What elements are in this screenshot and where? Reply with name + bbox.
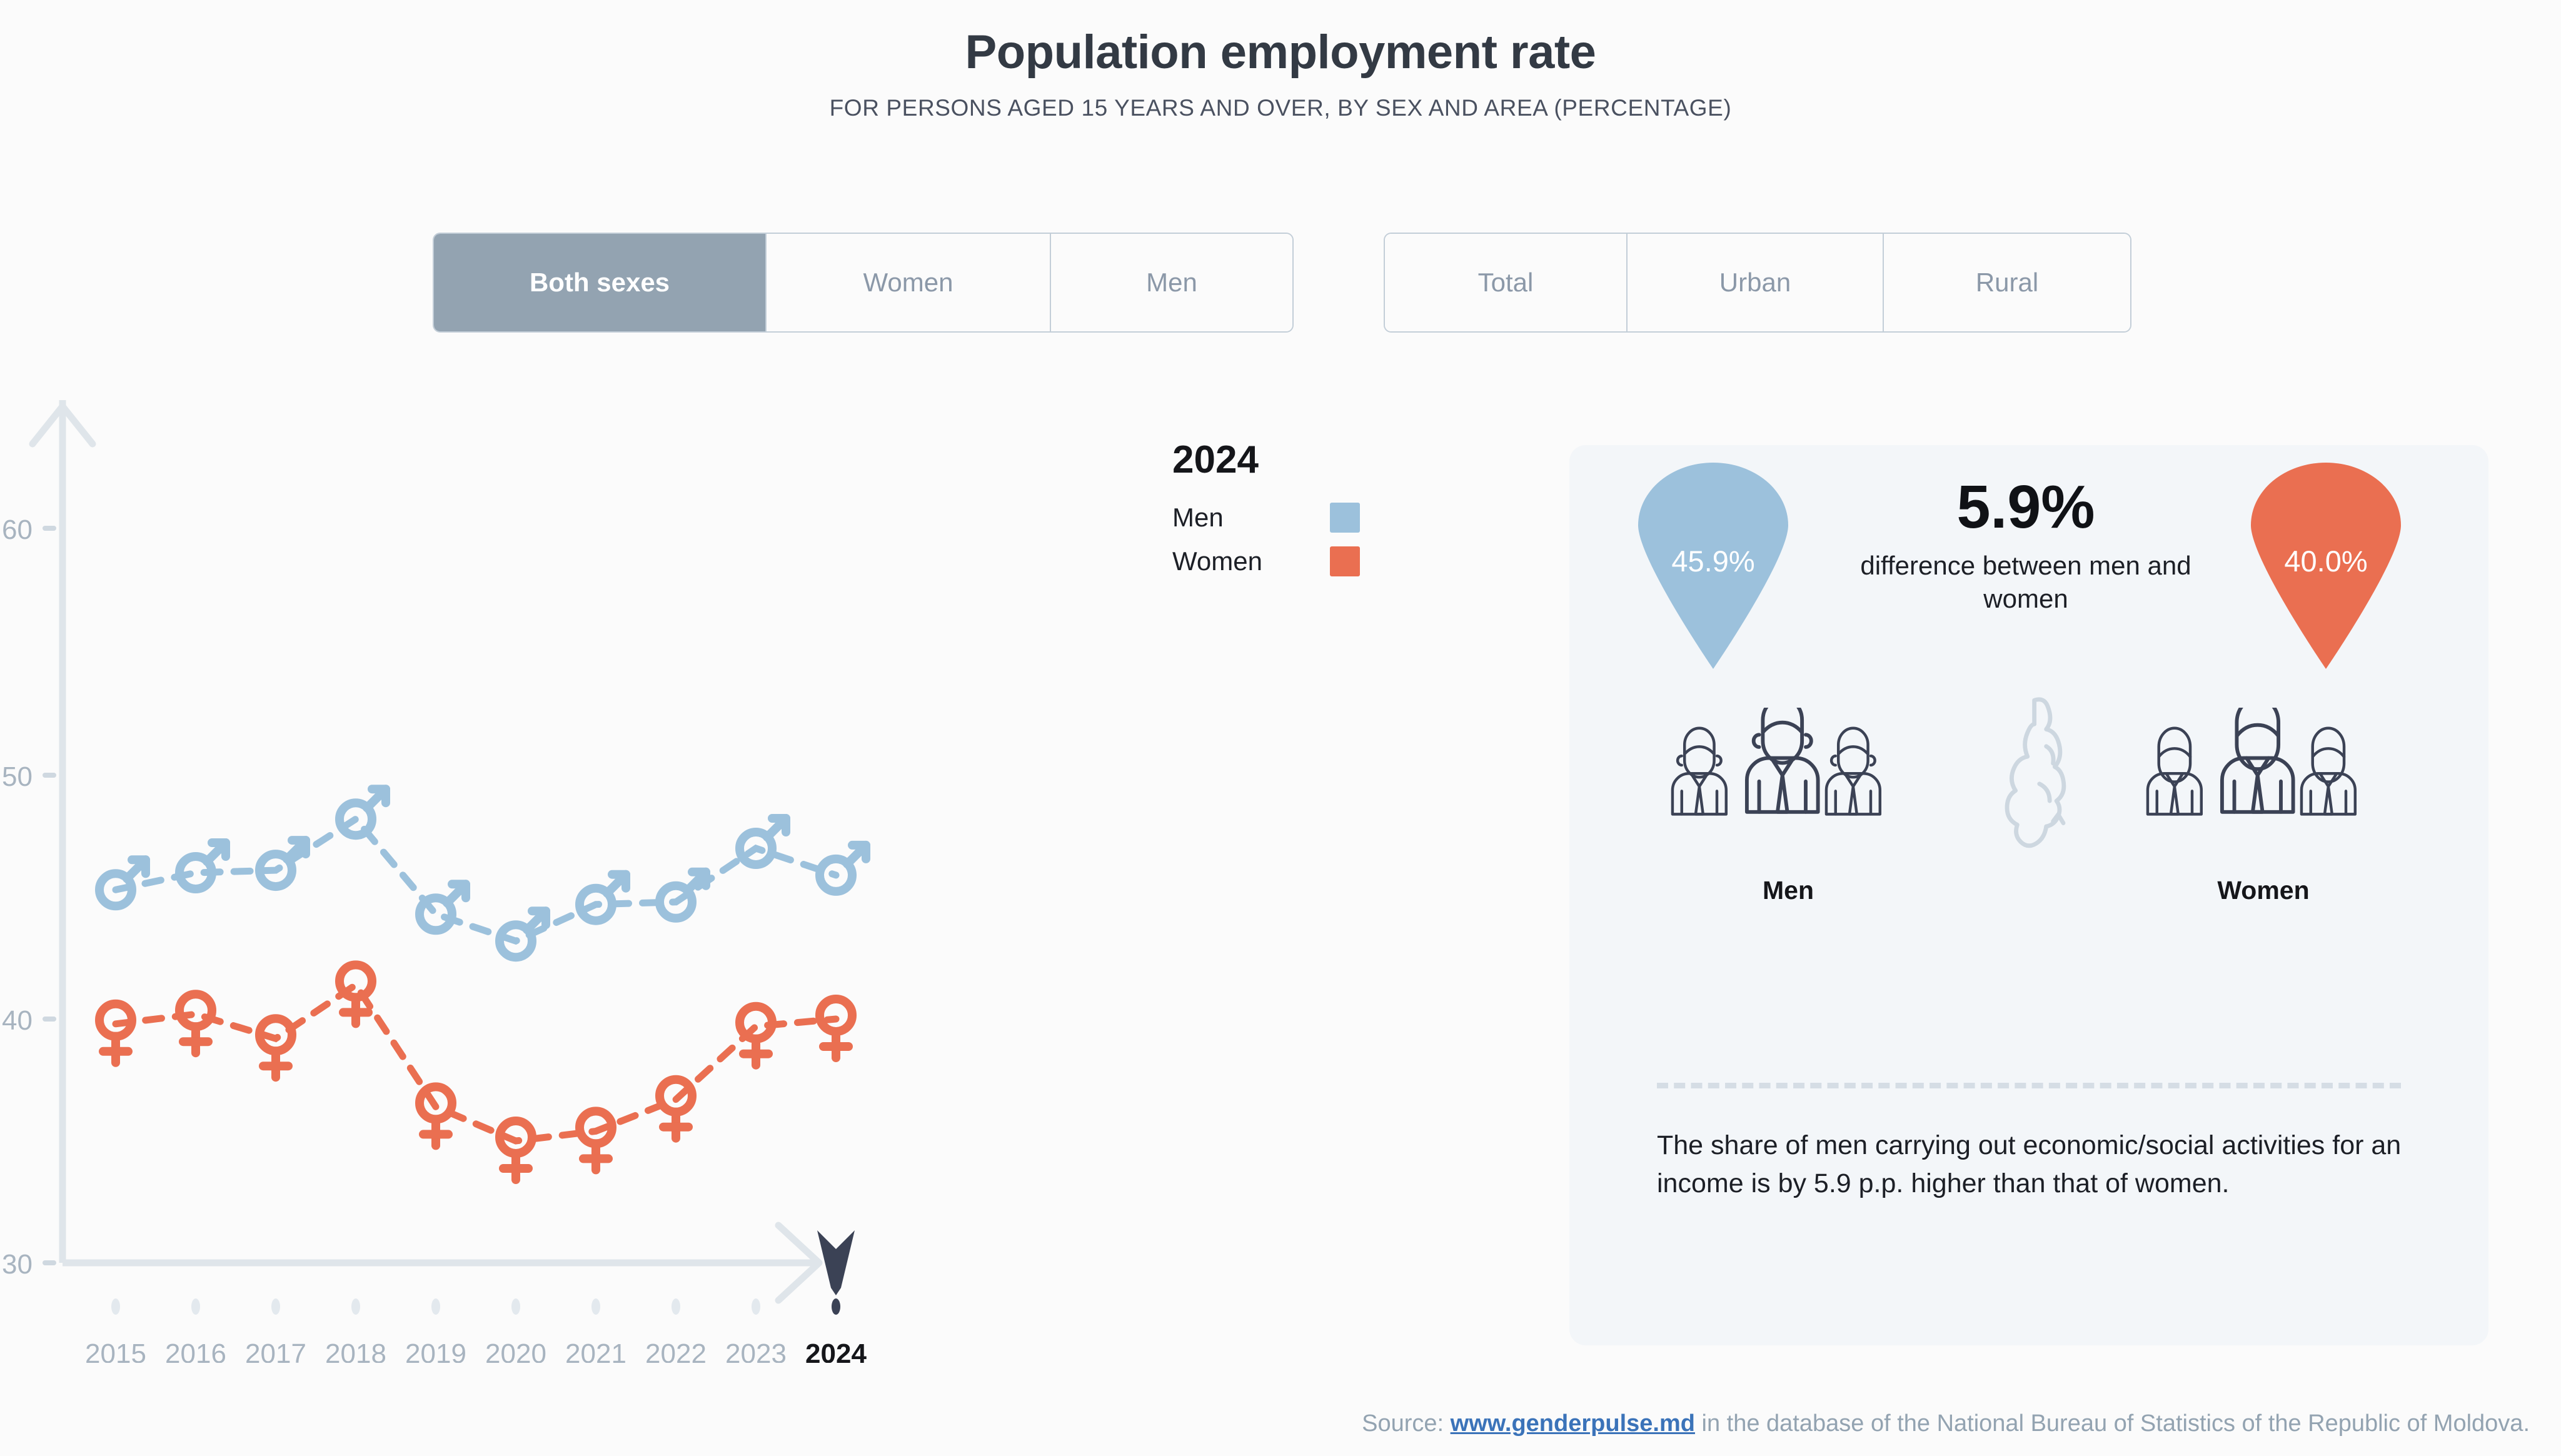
data-point-women-2015[interactable] <box>99 1004 132 1063</box>
difference-caption: difference between men and women <box>1819 550 2232 615</box>
sex-filter-group: Both sexes Women Men <box>433 233 1294 333</box>
data-point-men-2016[interactable] <box>179 843 226 889</box>
people-group-women: Women <box>2132 708 2395 905</box>
y-tick-60: 60 <box>2 515 33 545</box>
women-people-icon <box>2132 708 2395 864</box>
data-point-women-2020[interactable] <box>500 1121 532 1180</box>
page-header: Population employment rate FOR PERSONS A… <box>0 0 2561 121</box>
panel-divider <box>1657 1083 2401 1088</box>
panel-description: The share of men carrying out economic/s… <box>1657 1127 2413 1203</box>
summary-info-panel: 45.9% 5.9% difference between men and wo… <box>1569 445 2488 1345</box>
y-axis <box>33 400 93 1263</box>
data-point-women-2018[interactable] <box>340 965 372 1023</box>
series-line-men <box>116 819 836 941</box>
y-tick-50: 50 <box>2 761 33 792</box>
series-women <box>99 965 852 1180</box>
map-pin-women: 40.0% <box>2245 463 2407 669</box>
x-tick-2022[interactable]: 2022 <box>645 1338 707 1363</box>
page-title: Population employment rate <box>0 28 2561 78</box>
category-dot[interactable] <box>672 1298 680 1315</box>
x-tick-2018[interactable]: 2018 <box>325 1338 386 1363</box>
x-tick-2016[interactable]: 2016 <box>165 1338 226 1363</box>
people-group-men: Men <box>1657 708 1919 905</box>
people-label-women: Women <box>2132 876 2395 905</box>
legend-label-men: Men <box>1172 503 1224 533</box>
category-dots <box>111 1298 840 1315</box>
data-point-men-2015[interactable] <box>99 860 146 906</box>
legend-label-women: Women <box>1172 546 1262 576</box>
y-tick-40: 40 <box>2 1005 33 1036</box>
data-point-men-2024[interactable] <box>820 845 866 891</box>
people-label-men: Men <box>1657 876 1919 905</box>
category-dot[interactable] <box>511 1298 520 1315</box>
x-tick-2017[interactable]: 2017 <box>245 1338 306 1363</box>
x-tick-labels: 2015201620172018201920202021202220232024 <box>85 1338 867 1363</box>
tab-men[interactable]: Men <box>1051 234 1292 331</box>
pin-value-men: 45.9% <box>1632 544 1794 578</box>
legend-year: 2024 <box>1172 438 1435 482</box>
difference-block: 5.9% difference between men and women <box>1819 476 2232 615</box>
map-pin-men: 45.9% <box>1632 463 1794 669</box>
legend-swatch-men <box>1330 503 1360 533</box>
data-point-women-2017[interactable] <box>259 1018 292 1077</box>
y-tick-30: 30 <box>2 1249 33 1280</box>
men-people-icon <box>1657 708 1919 864</box>
category-dot[interactable] <box>832 1298 840 1315</box>
category-dot[interactable] <box>271 1298 280 1315</box>
selected-year-marker <box>817 1230 855 1295</box>
tab-total[interactable]: Total <box>1385 234 1628 331</box>
x-tick-2021[interactable]: 2021 <box>565 1338 626 1363</box>
area-filter-group: Total Urban Rural <box>1384 233 2131 333</box>
people-row: Men <box>1569 708 2488 939</box>
page-subtitle: FOR PERSONS AGED 15 YEARS AND OVER, BY S… <box>0 95 2561 121</box>
category-dot[interactable] <box>191 1298 200 1315</box>
difference-value: 5.9% <box>1819 476 2232 537</box>
category-dot[interactable] <box>351 1298 360 1315</box>
x-tick-2015[interactable]: 2015 <box>85 1338 146 1363</box>
data-point-men-2017[interactable] <box>259 840 306 886</box>
footer-suffix: in the database of the National Bureau o… <box>1695 1410 2530 1437</box>
legend-item-men[interactable]: Men <box>1172 496 1360 540</box>
data-point-women-2024[interactable] <box>820 999 852 1058</box>
data-point-men-2021[interactable] <box>580 875 626 921</box>
x-tick-2019[interactable]: 2019 <box>405 1338 466 1363</box>
data-point-women-2022[interactable] <box>660 1080 692 1138</box>
x-tick-2023[interactable]: 2023 <box>725 1338 787 1363</box>
category-dot[interactable] <box>431 1298 440 1315</box>
tab-both-sexes[interactable]: Both sexes <box>434 234 767 331</box>
chart-legend: 2024 Men Women <box>1172 438 1435 583</box>
tab-urban[interactable]: Urban <box>1628 234 1884 331</box>
moldova-map-icon <box>1951 695 2138 883</box>
x-tick-2024[interactable]: 2024 <box>805 1338 867 1363</box>
legend-swatch-women <box>1330 546 1360 576</box>
data-point-women-2021[interactable] <box>580 1111 612 1170</box>
footer-source-link[interactable]: www.genderpulse.md <box>1451 1410 1695 1437</box>
legend-item-women[interactable]: Women <box>1172 540 1360 583</box>
series-line-women <box>116 985 836 1141</box>
x-tick-2020[interactable]: 2020 <box>485 1338 546 1363</box>
series-men <box>99 789 866 957</box>
source-footer: Source: www.genderpulse.md in the databa… <box>0 1410 2561 1437</box>
data-point-women-2016[interactable] <box>179 994 212 1053</box>
pin-value-women: 40.0% <box>2245 544 2407 578</box>
category-dot[interactable] <box>591 1298 600 1315</box>
selected-year-chevron <box>817 1230 855 1295</box>
y-tick-marks <box>45 528 54 1263</box>
filter-controls: Both sexes Women Men Total Urban Rural <box>0 233 2561 333</box>
footer-prefix: Source: <box>1362 1410 1451 1437</box>
x-axis <box>63 1225 819 1300</box>
tab-rural[interactable]: Rural <box>1884 234 2130 331</box>
category-dot[interactable] <box>111 1298 120 1315</box>
pins-row: 45.9% 5.9% difference between men and wo… <box>1569 445 2488 708</box>
y-tick-labels: 60 50 40 30 <box>2 515 33 1280</box>
data-point-women-2023[interactable] <box>740 1007 772 1065</box>
data-point-women-2019[interactable] <box>420 1087 452 1145</box>
category-dot[interactable] <box>752 1298 760 1315</box>
tab-women[interactable]: Women <box>767 234 1051 331</box>
